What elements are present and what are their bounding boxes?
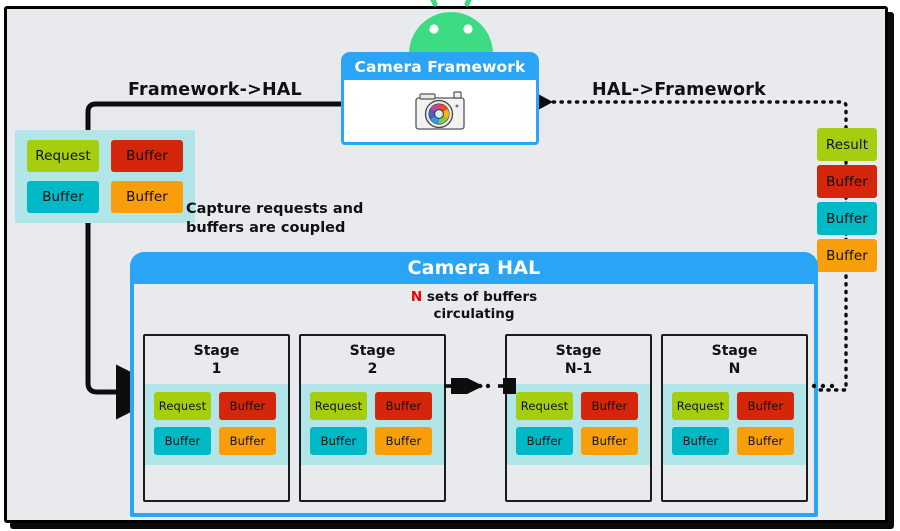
hal-note-line-2: circulating	[134, 306, 814, 323]
stage-title-index: 1	[145, 360, 288, 378]
camera-icon	[407, 87, 473, 135]
chip-buffer-orange: Buffer	[375, 427, 432, 455]
stage-title-word: Stage	[507, 342, 650, 360]
coupled-note-line-2: buffers are coupled	[186, 219, 363, 238]
chip-buffer-cyan: Buffer	[27, 181, 99, 213]
chip-request: Request	[154, 392, 211, 420]
stage-title-index: N	[663, 360, 806, 378]
stage-buffer-set-2: Request Buffer Buffer Buffer	[301, 384, 444, 465]
stage-title-1: Stage 1	[145, 336, 288, 384]
chip-buffer-orange: Buffer	[817, 239, 877, 272]
hal-note-n: N	[411, 289, 422, 305]
hal-result-buffer-set: Result Buffer Buffer Buffer	[817, 128, 877, 272]
stage-title-word: Stage	[145, 342, 288, 360]
stage-box-n-minus-1[interactable]: Stage N-1 Request Buffer Buffer Buffer	[505, 334, 652, 502]
chip-request: Request	[27, 140, 99, 172]
stage-title-index: 2	[301, 360, 444, 378]
stage-box-n[interactable]: Stage N Request Buffer Buffer Buffer	[661, 334, 808, 502]
chip-buffer-cyan: Buffer	[817, 202, 877, 235]
stage-title-n-minus-1: Stage N-1	[507, 336, 650, 384]
chip-buffer-cyan: Buffer	[516, 427, 573, 455]
coupled-note-line-1: Capture requests and	[186, 200, 363, 219]
stage-buffer-set-n: Request Buffer Buffer Buffer	[663, 384, 806, 465]
stage-gap-ellipsis-right	[808, 378, 848, 394]
camera-hal-title: Camera HAL	[134, 252, 814, 284]
chip-buffer-orange: Buffer	[581, 427, 638, 455]
arrow-hal-to-framework	[552, 102, 846, 128]
hal-circulating-note: N sets of buffers circulating	[134, 289, 814, 323]
framework-request-buffer-set: Request Buffer Buffer Buffer	[15, 130, 195, 223]
camera-hal-inner: N sets of buffers circulating Stage 1 Re…	[134, 284, 814, 513]
hal-note-line-1: N sets of buffers	[134, 289, 814, 306]
stage-buffer-set-n-minus-1: Request Buffer Buffer Buffer	[507, 384, 650, 465]
chip-buffer-cyan: Buffer	[672, 427, 729, 455]
camera-framework-body	[344, 80, 536, 142]
stage-list: Stage 1 Request Buffer Buffer Buffer Sta…	[140, 334, 804, 504]
chip-buffer-red: Buffer	[581, 392, 638, 420]
stage-title-n: Stage N	[663, 336, 806, 384]
chip-buffer-orange: Buffer	[219, 427, 276, 455]
hal-note-rest: sets of buffers	[422, 289, 537, 305]
chip-buffer-orange: Buffer	[737, 427, 794, 455]
chip-request: Request	[672, 392, 729, 420]
stage-title-index: N-1	[507, 360, 650, 378]
stage-title-word: Stage	[301, 342, 444, 360]
chip-buffer-red: Buffer	[111, 140, 183, 172]
chip-buffer-red: Buffer	[737, 392, 794, 420]
chip-buffer-cyan: Buffer	[310, 427, 367, 455]
diagram-canvas: Framework->HAL HAL->Framework Camera Fra…	[0, 0, 900, 531]
stage-box-2[interactable]: Stage 2 Request Buffer Buffer Buffer	[299, 334, 446, 502]
coupled-note: Capture requests and buffers are coupled	[186, 200, 363, 238]
chip-result: Result	[817, 128, 877, 161]
chip-buffer-orange: Buffer	[111, 181, 183, 213]
label-framework-to-hal: Framework->HAL	[128, 80, 302, 100]
chip-buffer-red: Buffer	[817, 165, 877, 198]
camera-framework-card[interactable]: Camera Framework	[341, 52, 539, 145]
stage-gap-ellipsis-middle	[444, 378, 516, 394]
chip-request: Request	[516, 392, 573, 420]
arrow-hal-to-framework-head	[538, 94, 553, 110]
stage-buffer-set-1: Request Buffer Buffer Buffer	[145, 384, 288, 465]
stage-title-word: Stage	[663, 342, 806, 360]
label-hal-to-framework: HAL->Framework	[592, 80, 766, 100]
stage-title-2: Stage 2	[301, 336, 444, 384]
chip-buffer-cyan: Buffer	[154, 427, 211, 455]
chip-buffer-red: Buffer	[375, 392, 432, 420]
camera-framework-title: Camera Framework	[344, 55, 536, 80]
chip-request: Request	[310, 392, 367, 420]
stage-box-1[interactable]: Stage 1 Request Buffer Buffer Buffer	[143, 334, 290, 502]
chip-buffer-red: Buffer	[219, 392, 276, 420]
